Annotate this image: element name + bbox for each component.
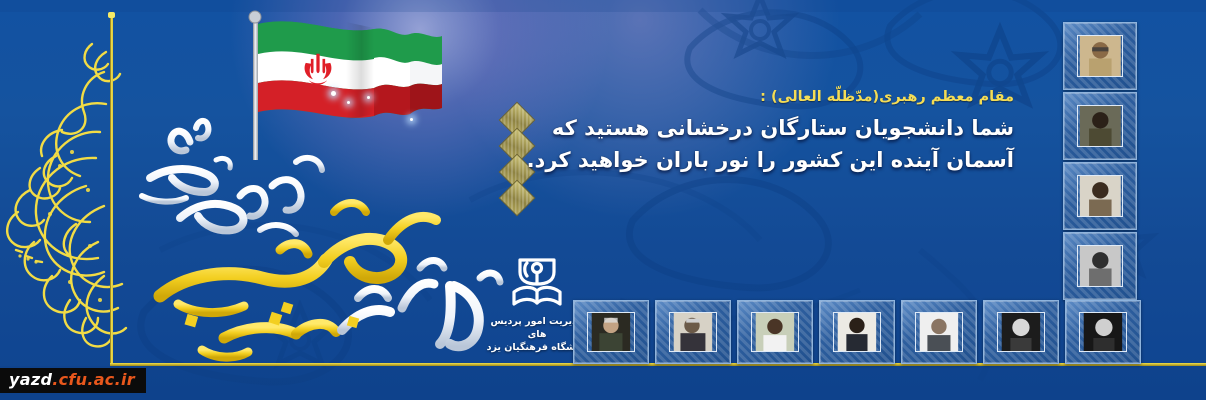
calligraphy-title bbox=[120, 100, 510, 370]
portrait-frame-b5 bbox=[901, 300, 975, 362]
quote-line-1: شما دانشجویان ستارگان درخشانی هستید که bbox=[494, 113, 1014, 145]
quote-line-2: آسمان آینده این کشور را نور باران خواهید… bbox=[494, 145, 1014, 177]
watermark: yazd.cfu.ac.ir bbox=[0, 368, 146, 393]
leader-quote-block: مقام معظم رهبری(مدّظلّه العالی) : شما دا… bbox=[494, 88, 1014, 177]
portrait-frame-b2 bbox=[655, 300, 729, 362]
diamond-ornament-icon bbox=[499, 180, 536, 217]
portrait-frame-b4 bbox=[819, 300, 893, 362]
portrait-frame-r3 bbox=[1063, 162, 1135, 228]
sparkle-icon bbox=[367, 96, 370, 99]
portrait-frame-b1 bbox=[573, 300, 647, 362]
portrait-frame-r1 bbox=[1063, 22, 1135, 88]
frame-corner-cap bbox=[108, 12, 115, 18]
portrait-frame-b6 bbox=[983, 300, 1057, 362]
portrait-frame-b7 bbox=[1065, 300, 1139, 362]
portrait-frame-r2 bbox=[1063, 92, 1135, 158]
watermark-prefix: yazd bbox=[9, 370, 52, 389]
student-day-banner: مقام معظم رهبری(مدّظلّه العالی) : شما دا… bbox=[0, 0, 1206, 400]
portrait-frame-b3 bbox=[737, 300, 811, 362]
quote-attribution: مقام معظم رهبری(مدّظلّه العالی) : bbox=[494, 88, 1014, 106]
sparkle-icon bbox=[331, 91, 336, 96]
portrait-frame-r4 bbox=[1063, 232, 1135, 298]
frame-vertical-line bbox=[110, 14, 113, 366]
open-book-graduate-icon bbox=[506, 252, 568, 314]
watermark-suffix: .cfu.ac.ir bbox=[52, 370, 135, 389]
